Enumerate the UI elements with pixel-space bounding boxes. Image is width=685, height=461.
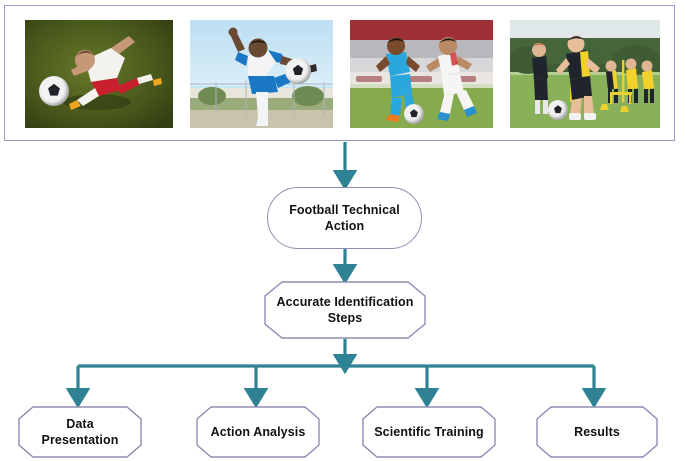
node-data-presentation[interactable]: Data Presentation — [18, 406, 142, 458]
photo-match-duel — [350, 20, 493, 128]
node-results-label: Results — [564, 424, 630, 440]
node-football-technical-action[interactable]: Football Technical Action — [267, 187, 422, 249]
photo-strip — [4, 5, 675, 141]
node-action-label: Action Analysis — [201, 424, 316, 440]
node-scientific-training[interactable]: Scientific Training — [362, 406, 496, 458]
photo-player-blue-volley — [190, 20, 333, 128]
photo-youth-training — [510, 20, 660, 128]
football-technical-action-figure: Football Technical Action Accurate Ident… — [0, 0, 685, 461]
node-action-analysis[interactable]: Action Analysis — [196, 406, 320, 458]
node-results[interactable]: Results — [536, 406, 658, 458]
node-data-label: Data Presentation — [18, 416, 142, 448]
node-steps-label: Accurate Identification Steps — [264, 294, 426, 326]
node-root-label: Football Technical Action — [268, 202, 421, 234]
node-accurate-identification-steps[interactable]: Accurate Identification Steps — [264, 281, 426, 339]
node-scientific-label: Scientific Training — [364, 424, 494, 440]
photo-player-white-red — [25, 20, 173, 128]
